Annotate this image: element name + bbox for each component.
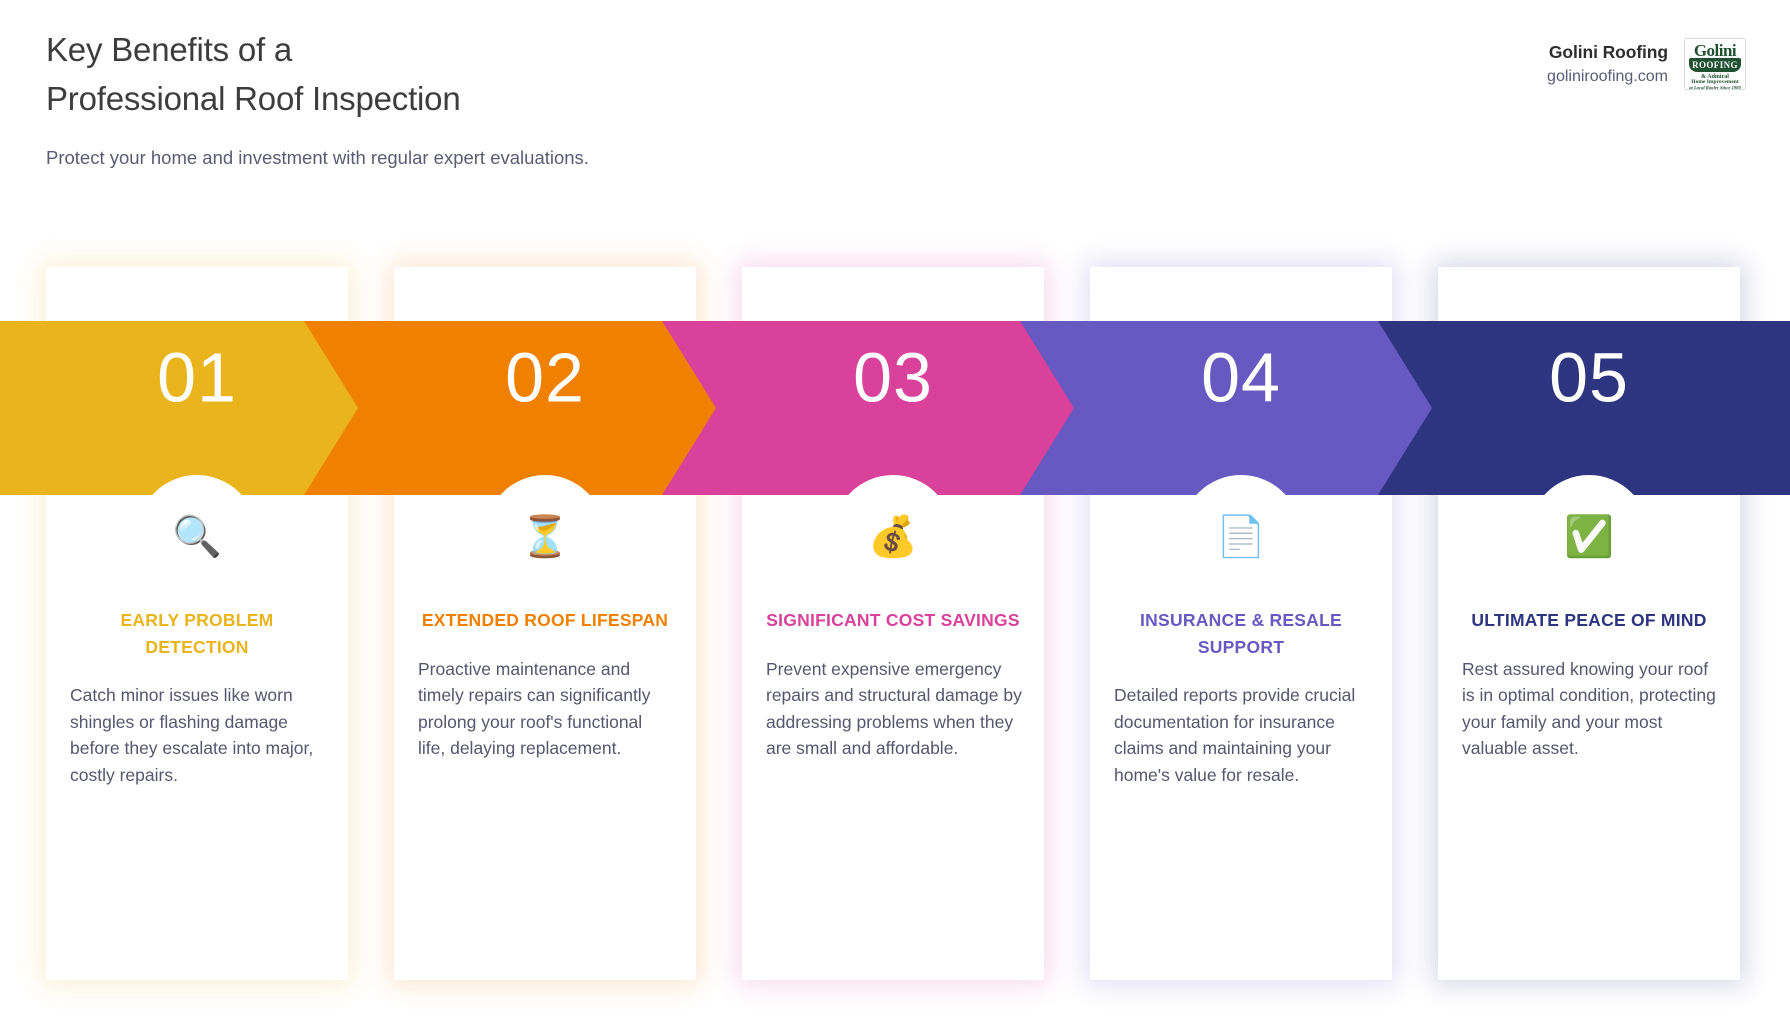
benefit-card-content: ⏳EXTENDED ROOF LIFESPANProactive mainten… (394, 517, 696, 762)
benefit-card-content: ✅ULTIMATE PEACE OF MINDRest assured know… (1438, 517, 1740, 762)
brand-website-url: goliniroofing.com (1547, 68, 1668, 86)
benefit-card-content: 🔍EARLY PROBLEM DETECTIONCatch minor issu… (46, 517, 348, 789)
infographic-canvas: Key Benefits of a Professional Roof Insp… (0, 0, 1790, 1024)
benefit-card-05[interactable]: ✅ULTIMATE PEACE OF MINDRest assured know… (1438, 267, 1740, 980)
benefit-card-content: 📄INSURANCE & RESALE SUPPORTDetailed repo… (1090, 517, 1392, 789)
benefit-cards-row: 🔍EARLY PROBLEM DETECTIONCatch minor issu… (0, 267, 1790, 980)
benefit-heading: SIGNIFICANT COST SAVINGS (764, 607, 1022, 634)
golini-roofing-logo-icon: Golini ROOFING & Admiral Home Improvemen… (1684, 38, 1746, 90)
benefit-card-02[interactable]: ⏳EXTENDED ROOF LIFESPANProactive mainten… (394, 267, 696, 980)
logo-subline-3: at Local Roofer Since 1980 (1687, 86, 1743, 91)
money-bag-icon: 💰 (764, 517, 1022, 563)
benefit-description: Prevent expensive emergency repairs and … (764, 656, 1022, 762)
document-icon: 📄 (1112, 517, 1370, 563)
benefit-heading: EXTENDED ROOF LIFESPAN (416, 607, 674, 634)
benefit-heading: INSURANCE & RESALE SUPPORT (1112, 607, 1370, 660)
hourglass-icon: ⏳ (416, 517, 674, 563)
logo-ribbon-text: ROOFING (1689, 58, 1741, 72)
benefit-description: Rest assured knowing your roof is in opt… (1460, 656, 1718, 762)
benefit-card-content: 💰SIGNIFICANT COST SAVINGSPrevent expensi… (742, 517, 1044, 762)
benefit-description: Detailed reports provide crucial documen… (1112, 682, 1370, 788)
logo-wordmark: Golini (1685, 42, 1745, 59)
page-title-line-1: Key Benefits of a (46, 26, 806, 75)
brand-text: Golini Roofing goliniroofing.com (1547, 42, 1668, 86)
page-header: Key Benefits of a Professional Roof Insp… (46, 26, 806, 172)
benefit-heading: ULTIMATE PEACE OF MIND (1460, 607, 1718, 634)
check-mark-icon: ✅ (1460, 517, 1718, 563)
benefit-description: Catch minor issues like worn shingles or… (68, 682, 326, 788)
benefit-description: Proactive maintenance and timely repairs… (416, 656, 674, 762)
brand-block: Golini Roofing goliniroofing.com Golini … (1547, 38, 1746, 90)
benefit-card-01[interactable]: 🔍EARLY PROBLEM DETECTIONCatch minor issu… (46, 267, 348, 980)
benefit-heading: EARLY PROBLEM DETECTION (68, 607, 326, 660)
page-title-line-2: Professional Roof Inspection (46, 75, 806, 124)
benefit-card-04[interactable]: 📄INSURANCE & RESALE SUPPORTDetailed repo… (1090, 267, 1392, 980)
benefit-card-03[interactable]: 💰SIGNIFICANT COST SAVINGSPrevent expensi… (742, 267, 1044, 980)
magnifying-glass-icon: 🔍 (68, 517, 326, 563)
brand-name: Golini Roofing (1547, 42, 1668, 63)
page-subtitle: Protect your home and investment with re… (46, 144, 606, 173)
